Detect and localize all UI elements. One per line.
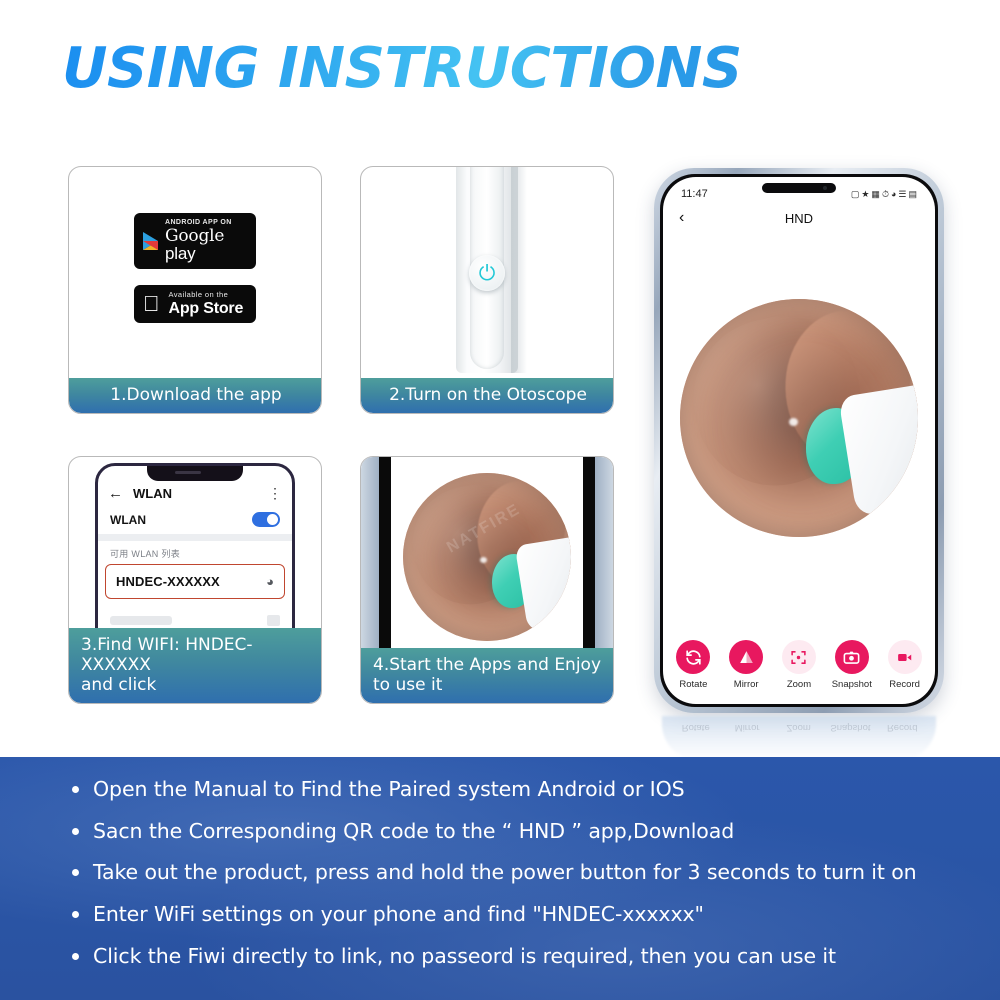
list-item: Sacn the Corresponding QR code to the “ … <box>72 817 970 847</box>
google-play-badge-title: Google play <box>165 228 244 263</box>
toolbar-button-rotate[interactable]: Rotate <box>673 640 714 690</box>
wlan-toggle-row[interactable]: WLAN <box>98 505 292 534</box>
camera-preview <box>663 233 935 603</box>
video-icon <box>888 640 922 674</box>
app-store-badge-title: App Store <box>169 301 244 317</box>
phone-notch <box>147 466 243 481</box>
zoom-icon <box>782 640 816 674</box>
toolbar-label: Zoom <box>787 679 811 690</box>
toolbar-label: Record <box>889 679 920 690</box>
card4-caption-line1: 4.Start the Apps and Enjoy <box>373 655 603 675</box>
page-title: USING INSTRUCTIONS <box>62 36 742 101</box>
card2-media: ⏻ <box>361 167 613 413</box>
power-button[interactable]: ⏻ <box>469 255 505 291</box>
status-icons: ▢ ★ ▦ ⏱ ◕ ☰ ▤ <box>851 189 917 200</box>
google-play-icon <box>143 232 158 250</box>
app-badge-icon: ▦ <box>871 189 880 200</box>
back-arrow-icon[interactable]: ← <box>108 486 123 501</box>
bullet-icon <box>72 953 79 960</box>
store-badges: ANDROID APP ON Google play  Available o… <box>69 213 321 323</box>
wifi-network-row-hndec[interactable]: HNDEC-XXXXXX ◕ <box>105 564 285 599</box>
alarm-icon: ⏱ <box>882 189 889 200</box>
toolbar-button-record[interactable]: Record <box>884 640 925 690</box>
toolbar-button-snapshot[interactable]: Snapshot <box>831 640 872 690</box>
list-item: Open the Manual to Find the Paired syste… <box>72 775 970 805</box>
app-phone-mockup: 11:47 ▢ ★ ▦ ⏱ ◕ ☰ ▤ ‹ HND <box>654 168 944 713</box>
app-title: HND <box>663 211 935 226</box>
card3-caption: 3.Find WIFI: HNDEC-XXXXXX and click <box>69 628 321 703</box>
toolbar-label: Snapshot <box>832 679 872 690</box>
signal-icon: ☰ <box>898 189 906 200</box>
phone-reflection-labels: Rotate Mirror Zoom Snapshot Record <box>676 722 922 733</box>
step-card-download: ANDROID APP ON Google play  Available o… <box>68 166 322 414</box>
card2-caption: 2.Turn on the Otoscope <box>361 378 613 413</box>
step-card-find-wifi: ← WLAN ⋮ WLAN 可用 WLAN 列表 HNDEC-XXXXXX ◕ <box>68 456 322 704</box>
mute-icon: ★ <box>861 189 869 200</box>
card3-caption-line1: 3.Find WIFI: HNDEC-XXXXXX <box>81 635 311 675</box>
camera-icon <box>835 640 869 674</box>
bullet-text: Click the Fiwi directly to link, no pass… <box>93 942 836 972</box>
wlan-toggle-label: WLAN <box>110 513 146 527</box>
wlan-screen-title: WLAN <box>133 486 172 501</box>
bullet-icon <box>72 828 79 835</box>
rotate-icon <box>676 640 710 674</box>
wlan-toggle-switch[interactable] <box>252 512 280 527</box>
app-store-badge[interactable]:  Available on the App Store <box>134 285 256 323</box>
list-item: Enter WiFi settings on your phone and fi… <box>72 900 970 930</box>
bullet-text: Take out the product, press and hold the… <box>93 858 917 888</box>
bullet-icon <box>72 869 79 876</box>
instructions-page: USING INSTRUCTIONS ANDROID APP ON Google… <box>0 0 1000 1000</box>
toolbar-button-mirror[interactable]: Mirror <box>726 640 767 690</box>
bullet-text: Sacn the Corresponding QR code to the “ … <box>93 817 734 847</box>
toolbar-label: Mirror <box>734 679 759 690</box>
app-badge-icon: ▢ <box>851 189 860 200</box>
card4-caption-line2: to use it <box>373 675 603 695</box>
toolbar-label: Rotate <box>679 679 707 690</box>
list-item: Take out the product, press and hold the… <box>72 858 970 888</box>
google-play-badge-small: ANDROID APP ON <box>165 219 244 226</box>
divider <box>98 534 292 541</box>
overflow-menu-icon[interactable]: ⋮ <box>268 489 282 497</box>
card1-caption: 1.Download the app <box>69 378 321 413</box>
mirror-icon <box>729 640 763 674</box>
toolbar-button-zoom[interactable]: Zoom <box>779 640 820 690</box>
bullet-icon <box>72 911 79 918</box>
battery-icon: ▤ <box>908 189 917 200</box>
otoscope-preview-image: NATFIRE <box>403 473 571 641</box>
otoscope-live-image <box>680 299 918 537</box>
status-time: 11:47 <box>681 188 708 200</box>
google-play-badge[interactable]: ANDROID APP ON Google play <box>134 213 256 269</box>
power-icon: ⏻ <box>479 263 496 284</box>
apple-icon:  <box>143 293 160 315</box>
bullet-text: Enter WiFi settings on your phone and fi… <box>93 900 704 930</box>
app-bar: ‹ HND <box>663 203 935 233</box>
card4-caption: 4.Start the Apps and Enjoy to use it <box>361 648 613 703</box>
footer-bullet-list: Open the Manual to Find the Paired syste… <box>72 775 970 984</box>
wlan-list-header: 可用 WLAN 列表 <box>98 541 292 564</box>
app-screen: 11:47 ▢ ★ ▦ ⏱ ◕ ☰ ▤ ‹ HND <box>663 177 935 704</box>
app-store-badge-small: Available on the <box>169 291 244 299</box>
wifi-icon: ◕ <box>891 189 896 199</box>
otoscope-shadow <box>511 167 527 373</box>
footer-panel: Open the Manual to Find the Paired syste… <box>0 757 1000 1000</box>
list-item: Click the Fiwi directly to link, no pass… <box>72 942 970 972</box>
bullet-text: Open the Manual to Find the Paired syste… <box>93 775 685 805</box>
bullet-icon <box>72 786 79 793</box>
phone-camera-notch <box>762 183 836 193</box>
wifi-icon: ◕ <box>266 575 274 588</box>
step-card-start-app: NATFIRE 4.Start the Apps and Enjoy to us… <box>360 456 614 704</box>
app-toolbar: Rotate Mirror <box>663 640 935 690</box>
step-card-power-on: ⏻ 2.Turn on the Otoscope <box>360 166 614 414</box>
card3-caption-line2: and click <box>81 675 311 695</box>
card1-media: ANDROID APP ON Google play  Available o… <box>69 167 321 413</box>
wifi-ssid-label: HNDEC-XXXXXX <box>116 574 220 589</box>
